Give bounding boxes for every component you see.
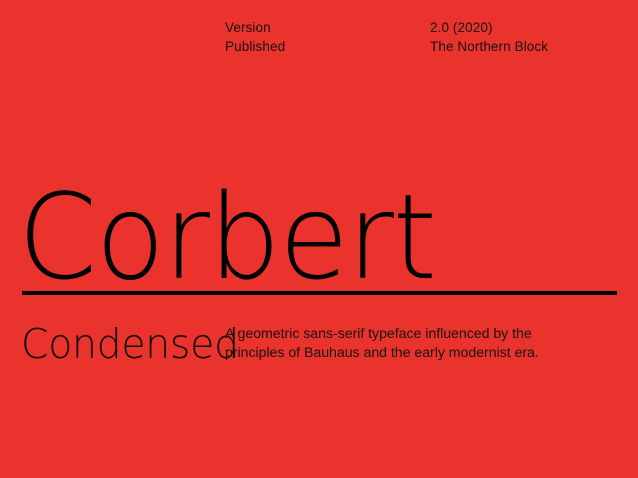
description-line-2: principles of Bauhaus and the early mode…: [225, 344, 607, 363]
typeface-style-subtitle: Condensed: [21, 322, 239, 366]
metadata-table: Version 2.0 (2020) Published The Norther…: [225, 20, 548, 55]
typeface-specimen-poster: Version 2.0 (2020) Published The Norther…: [0, 0, 638, 478]
metadata-label-published: Published: [225, 39, 430, 55]
horizontal-rule-divider: [22, 291, 617, 295]
typeface-name-headline: Corbert: [18, 178, 435, 296]
description-line-1: A geometric sans-serif typeface influenc…: [225, 325, 607, 344]
metadata-value-version: 2.0 (2020): [430, 20, 548, 36]
typeface-description: A geometric sans-serif typeface influenc…: [225, 325, 607, 363]
metadata-label-version: Version: [225, 20, 430, 36]
metadata-value-published: The Northern Block: [430, 39, 548, 55]
